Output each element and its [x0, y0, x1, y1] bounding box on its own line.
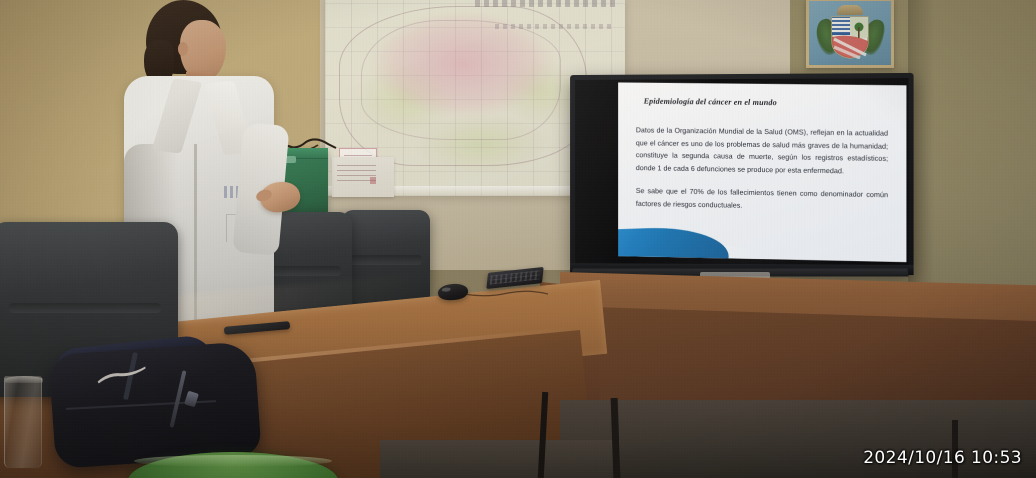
camera-timestamp: 2024/10/16 10:53	[863, 448, 1022, 468]
map-coastline-inner	[361, 20, 561, 140]
slide-body: Datos de la Organización Mundial de la S…	[636, 124, 888, 215]
tv-screen: Epidemiología del cáncer en el mundo Dat…	[575, 78, 909, 268]
mouse-cable	[464, 286, 548, 296]
notice-stamp	[370, 177, 376, 184]
crest-shield-icon	[830, 15, 870, 59]
slide-wave-accent	[618, 225, 731, 262]
slide-paragraph-2: Se sabe que el 70% de los fallecimientos…	[636, 185, 888, 215]
floor-center	[380, 440, 620, 478]
wall-mounted-television[interactable]: Epidemiología del cáncer en el mundo Dat…	[570, 73, 914, 275]
map-subtitle-text	[495, 24, 613, 29]
coat-of-arms-frame	[806, 0, 894, 68]
crest-phrygian-cap-icon	[837, 5, 863, 15]
green-chair-rim	[134, 455, 332, 467]
slide-title: Epidemiología del cáncer en el mundo	[644, 97, 884, 109]
photograph: Epidemiología del cáncer en el mundo Dat…	[0, 0, 1036, 478]
slide-paragraph-1: Datos de la Organización Mundial de la S…	[636, 124, 888, 178]
drinking-glass	[4, 376, 42, 468]
keyboard-keys	[490, 270, 541, 284]
presentation-slide: Epidemiología del cáncer en el mundo Dat…	[618, 82, 906, 262]
glass-rim	[5, 376, 43, 383]
wall-paper-notice	[332, 157, 394, 197]
person-ear	[178, 42, 188, 56]
mouse-highlight	[442, 287, 451, 292]
map-title-text	[475, 0, 615, 7]
